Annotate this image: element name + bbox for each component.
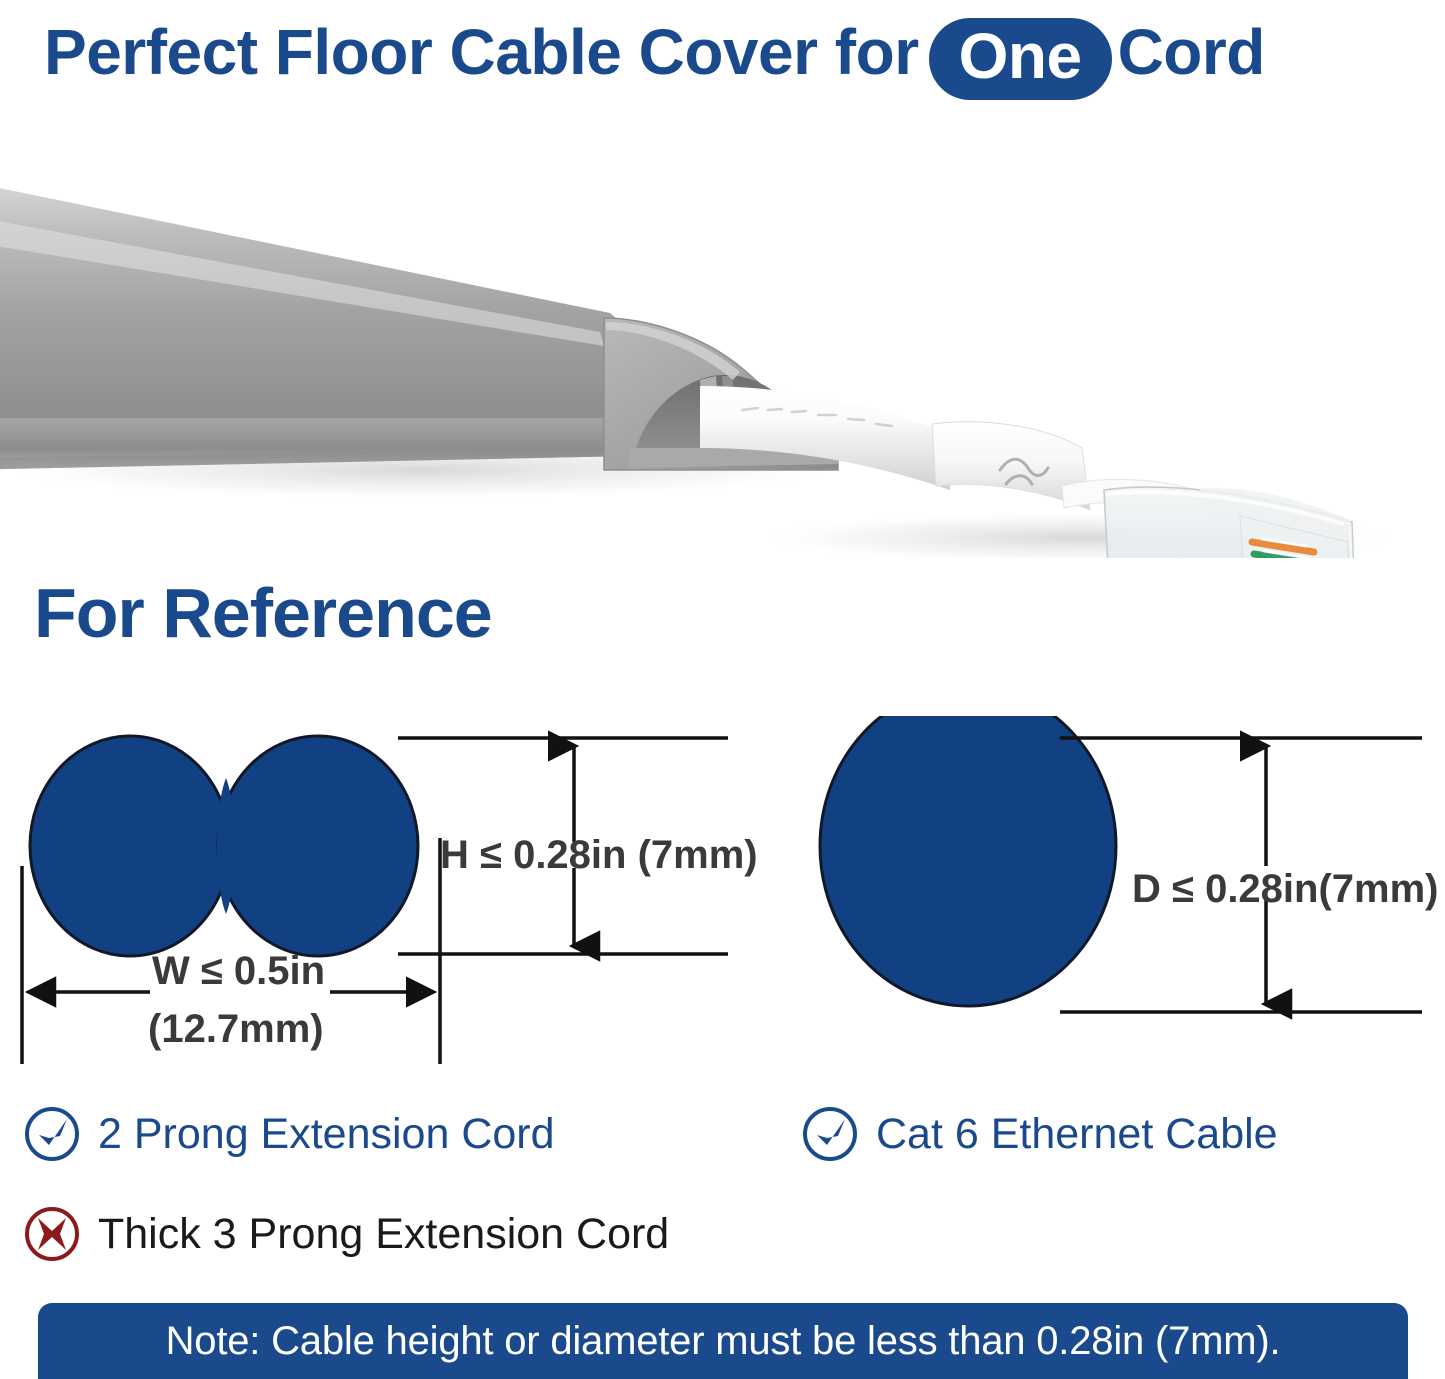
check-circle-icon [800, 1104, 860, 1164]
note-banner: Note: Cable height or diameter must be l… [38, 1303, 1408, 1379]
list-item-thick-three-prong-cord: Thick 3 Prong Extension Cord [22, 1204, 669, 1264]
list-item-label: Cat 6 Ethernet Cable [876, 1113, 1278, 1156]
height-dimension-label: H ≤ 0.28in (7mm) [440, 833, 758, 877]
reference-diagrams: H ≤ 0.28in (7mm) W ≤ 0.5in (12.7mm) [0, 716, 1445, 1086]
width-dimension-label-line2: (12.7mm) [148, 1007, 324, 1051]
product-photo-illustration [0, 118, 1445, 558]
list-item-label: Thick 3 Prong Extension Cord [98, 1213, 669, 1256]
double-ellipse-shape [30, 736, 418, 956]
rj45-connector [1104, 487, 1356, 558]
one-badge: One [929, 18, 1112, 99]
diagram-two-prong: H ≤ 0.28in (7mm) W ≤ 0.5in (12.7mm) [22, 736, 758, 1064]
diagram-round-cable: D ≤ 0.28in(7mm) [820, 716, 1438, 1012]
x-circle-icon [22, 1204, 82, 1264]
page-title: Perfect Floor Cable Cover forOneCord [0, 0, 1445, 118]
check-circle-icon [22, 1104, 82, 1164]
title-text-after: Cord [1118, 16, 1265, 88]
list-item-cat6-ethernet-cable: Cat 6 Ethernet Cable [800, 1104, 1278, 1164]
product-photo [0, 118, 1445, 558]
list-item-label: 2 Prong Extension Cord [98, 1113, 555, 1156]
single-ellipse-shape [820, 716, 1116, 1006]
title-line: Perfect Floor Cable Cover forOneCord [44, 18, 1265, 99]
diameter-dimension-label: D ≤ 0.28in(7mm) [1132, 867, 1438, 911]
dimension-diagrams-svg: H ≤ 0.28in (7mm) W ≤ 0.5in (12.7mm) [0, 716, 1445, 1086]
note-text: Note: Cable height or diameter must be l… [166, 1321, 1281, 1361]
title-text-before: Perfect Floor Cable Cover for [44, 16, 919, 88]
list-item-two-prong-cord: 2 Prong Extension Cord [22, 1104, 555, 1164]
width-dimension-label-line1: W ≤ 0.5in [152, 949, 325, 993]
product-infographic: Perfect Floor Cable Cover forOneCord [0, 0, 1445, 1379]
cable-cover-body [0, 180, 660, 470]
for-reference-heading: For Reference [34, 578, 492, 648]
